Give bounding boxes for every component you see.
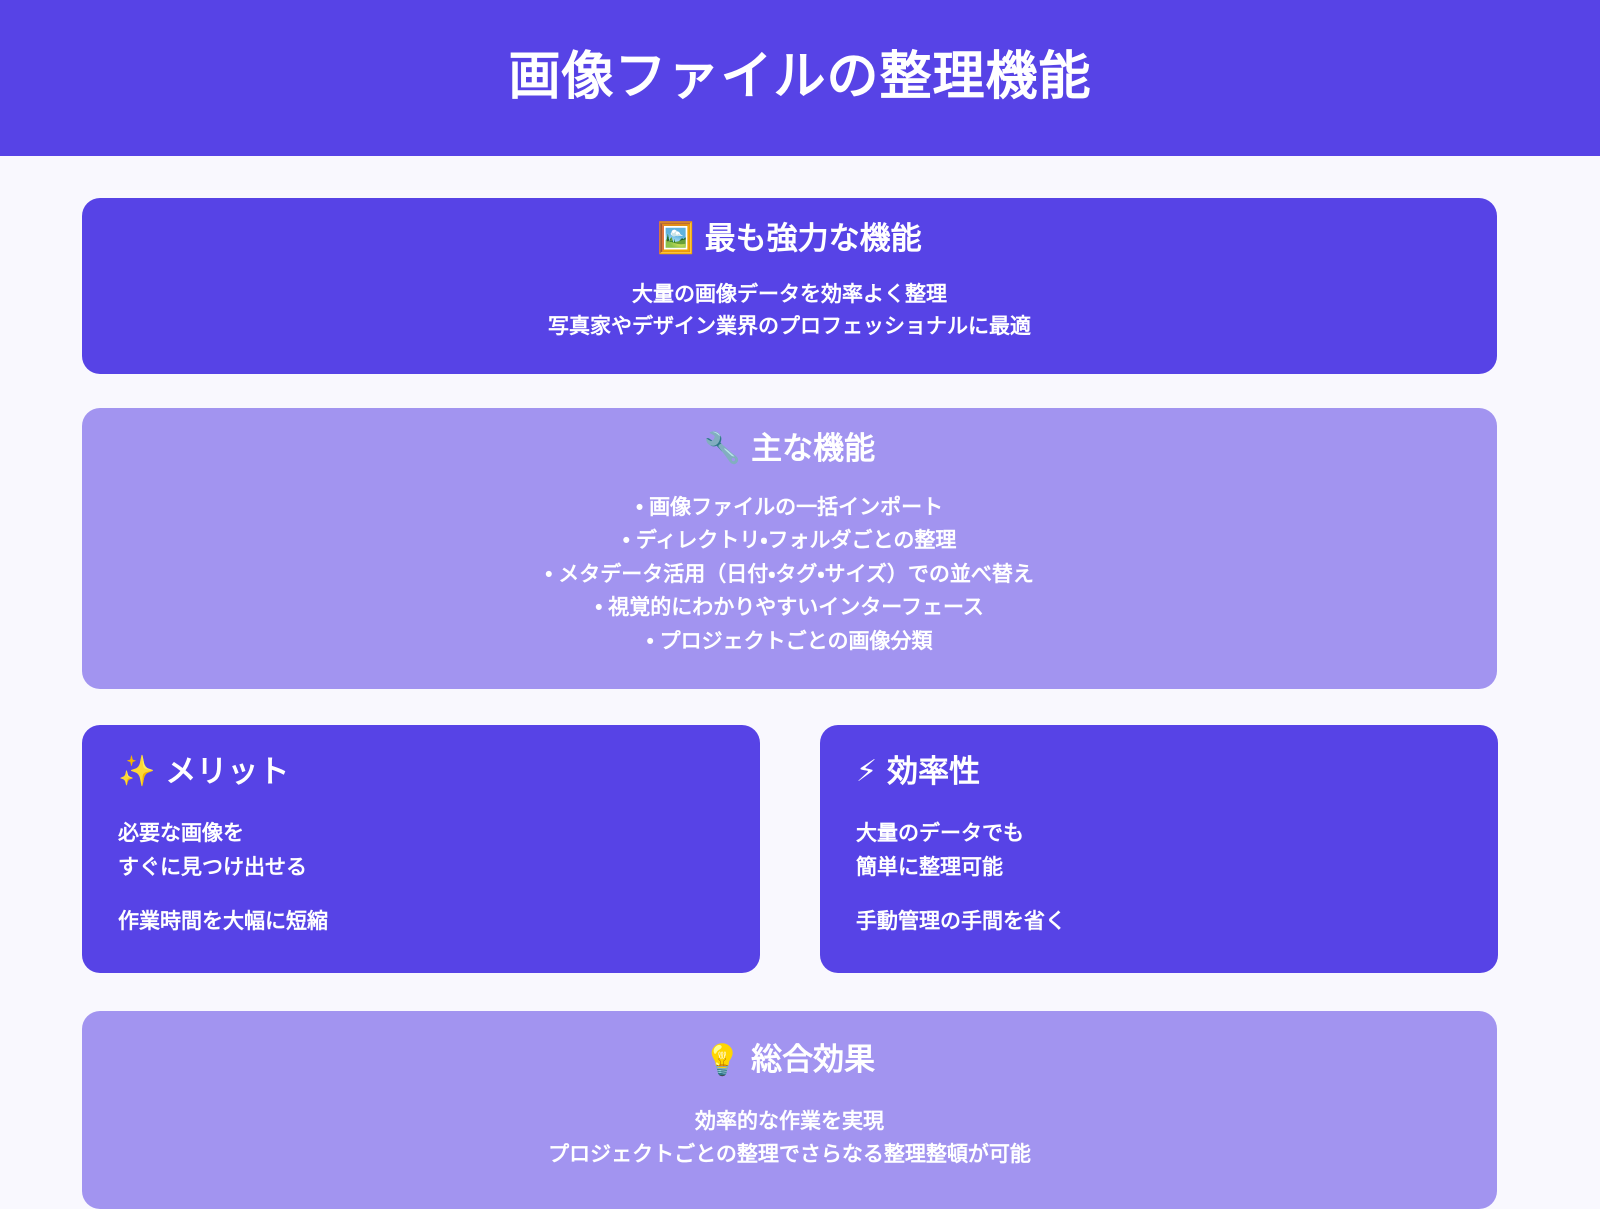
page-header: 画像ファイルの整理機能 xyxy=(0,0,1600,156)
sparkles-icon: ✨ xyxy=(118,757,155,787)
card-highlight: 🖼️ 最も強力な機能 大量の画像データを効率よく整理 写真家やデザイン業界のプロ… xyxy=(82,198,1497,374)
card-efficiency-title-text: 効率性 xyxy=(887,753,980,792)
card-efficiency-paragraph: 大量のデータでも 簡単に整理可能 xyxy=(856,817,1462,885)
feature-item: • ディレクトリ・フォルダごとの整理 xyxy=(122,524,1457,558)
card-merit-paragraph: 作業時間を大幅に短縮 xyxy=(118,905,724,939)
light-bulb-icon: 💡 xyxy=(704,1046,741,1076)
high-voltage-icon: ⚡ xyxy=(856,757,877,787)
card-merit: ✨ メリット 必要な画像を すぐに見つけ出せる 作業時間を大幅に短縮 xyxy=(82,725,760,974)
card-features-title: 🔧 主な機能 xyxy=(122,430,1457,469)
card-efficiency: ⚡ 効率性 大量のデータでも 簡単に整理可能 手動管理の手間を省く xyxy=(820,725,1498,974)
two-column-row: ✨ メリット 必要な画像を すぐに見つけ出せる 作業時間を大幅に短縮 ⚡ 効率性… xyxy=(82,725,1518,974)
card-merit-paragraph: 必要な画像を すぐに見つけ出せる xyxy=(118,817,724,885)
card-merit-title-text: メリット xyxy=(165,753,289,792)
card-summary-line-1: 効率的な作業を実現 xyxy=(122,1106,1457,1139)
framed-picture-icon: 🖼️ xyxy=(657,224,694,254)
wrench-icon: 🔧 xyxy=(704,434,741,464)
card-merit-title: ✨ メリット xyxy=(118,753,724,792)
card-summary: 💡 総合効果 効率的な作業を実現 プロジェクトごとの整理でさらなる整理整頓が可能 xyxy=(82,1011,1497,1209)
card-summary-title: 💡 総合効果 xyxy=(122,1041,1457,1080)
feature-item: • メタデータ活用（日付・タグ・サイズ）での並べ替え xyxy=(122,558,1457,592)
card-efficiency-title: ⚡ 効率性 xyxy=(856,753,1462,792)
card-features-title-text: 主な機能 xyxy=(751,430,875,469)
page-title: 画像ファイルの整理機能 xyxy=(508,49,1091,106)
card-highlight-line-1: 大量の画像データを効率よく整理 xyxy=(122,279,1457,312)
card-highlight-title-text: 最も強力な機能 xyxy=(705,220,922,259)
feature-item: • 画像ファイルの一括インポート xyxy=(122,491,1457,525)
feature-item: • 視覚的にわかりやすいインターフェース xyxy=(122,591,1457,625)
card-highlight-title: 🖼️ 最も強力な機能 xyxy=(122,220,1457,259)
content-area: 🖼️ 最も強力な機能 大量の画像データを効率よく整理 写真家やデザイン業界のプロ… xyxy=(0,156,1600,1209)
feature-item: • プロジェクトごとの画像分類 xyxy=(122,625,1457,659)
card-efficiency-paragraph: 手動管理の手間を省く xyxy=(856,905,1462,939)
card-features: 🔧 主な機能 • 画像ファイルの一括インポート • ディレクトリ・フォルダごとの… xyxy=(82,408,1497,689)
card-summary-title-text: 総合効果 xyxy=(751,1041,875,1080)
card-summary-line-2: プロジェクトごとの整理でさらなる整理整頓が可能 xyxy=(122,1139,1457,1172)
card-highlight-line-2: 写真家やデザイン業界のプロフェッショナルに最適 xyxy=(122,311,1457,344)
